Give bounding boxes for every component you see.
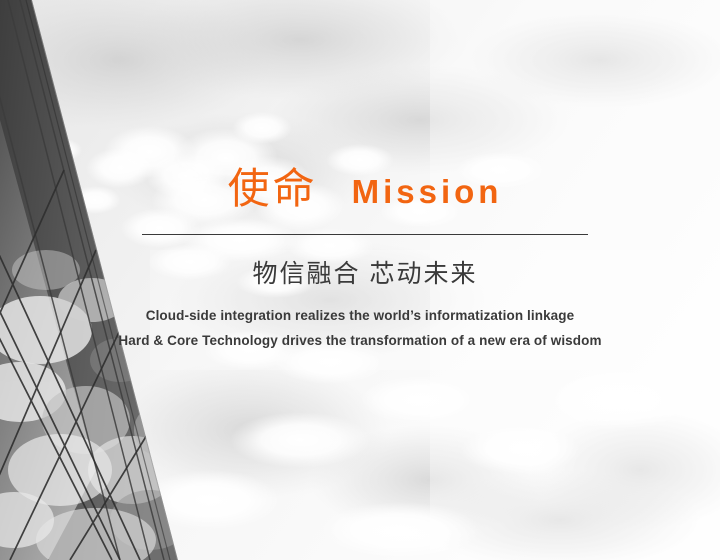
body-line-2: Hard & Core Technology drives the transf… — [60, 328, 660, 353]
banner-content: 使命 Mission 物信融合 芯动未来 Cloud-side integrat… — [0, 0, 720, 560]
heading-row: 使命 Mission — [142, 168, 588, 210]
heading-divider — [142, 234, 588, 235]
body-line-1: Cloud-side integration realizes the worl… — [60, 303, 660, 328]
mission-banner: 使命 Mission 物信融合 芯动未来 Cloud-side integrat… — [0, 0, 720, 560]
body-text: Cloud-side integration realizes the worl… — [60, 303, 660, 353]
heading-english: Mission — [352, 175, 503, 208]
heading-chinese: 使命 — [228, 168, 318, 210]
subtitle-chinese: 物信融合 芯动未来 — [142, 259, 588, 290]
